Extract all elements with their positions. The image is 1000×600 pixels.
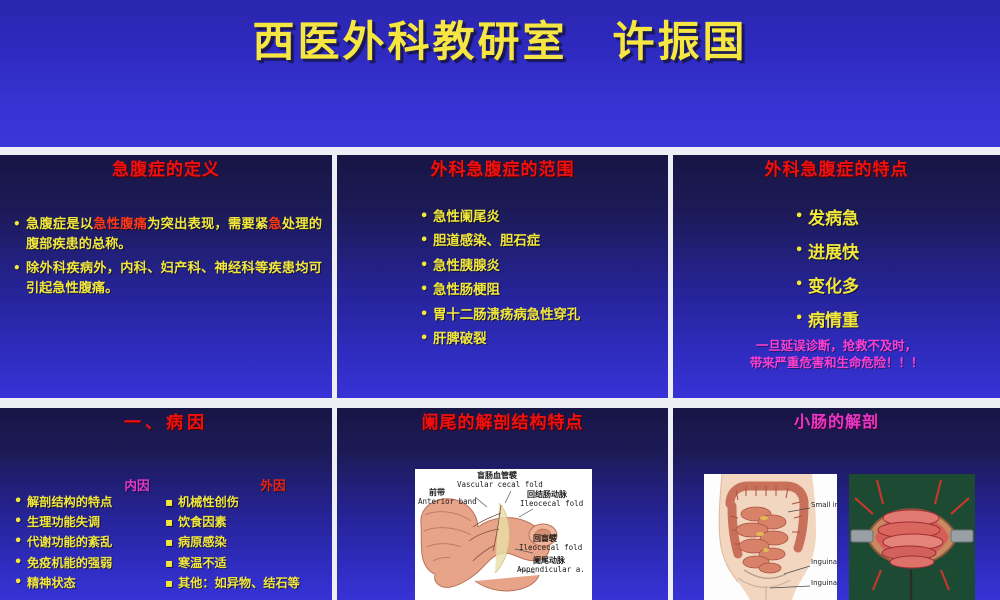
small-intestine-illustration: Small intestine Inguinal ligament Inguin… — [704, 474, 837, 600]
list-item: 机械性创伤 — [178, 496, 332, 508]
features-list: 发病急 进展快 变化多 病情重 — [808, 211, 1000, 347]
definition-body: 急腹症是以急性腹痛为突出表现，需要紧急处理的腹部疾患的总称。 除外科疾病外，内科… — [12, 215, 322, 303]
definition-paragraph-2: 除外科疾病外，内科、妇产科、神经科等疾患均可引起急性腹痛。 — [12, 259, 322, 300]
figure-label-en-ileocecal-fold: Ileocecal fold — [519, 544, 582, 552]
list-item: 免疫机能的强弱 — [27, 557, 177, 569]
list-item: 饮食因素 — [178, 516, 332, 528]
figure-label-inguinal-ligament: Inguinal ligament — [811, 559, 837, 567]
slide-panel-definition[interactable]: 急腹症的定义 急腹症是以急性腹痛为突出表现，需要紧急处理的腹部疾患的总称。 除外… — [0, 155, 332, 398]
list-item: 精神状态 — [27, 577, 177, 589]
slide-panel-scope[interactable]: 外科急腹症的范围 急性阑尾炎 胆道感染、胆石症 急性胰腺炎 急性肠梗阻 胃十二肠… — [337, 155, 668, 398]
etiology-external-list: 机械性创伤 饮食因素 病原感染 寒温不适 其他：如异物、结石等 — [178, 496, 332, 597]
panel-title-scope: 外科急腹症的范围 — [337, 155, 668, 180]
page-title: 西医外科教研室 许振国 — [0, 8, 1000, 69]
etiology-column-header-external: 外因 — [228, 475, 318, 494]
figure-label-en-anterior-band: Anterior band — [418, 498, 477, 506]
small-intestine-surgical-photo — [849, 474, 975, 600]
figure-label-en-appendicular-artery: Appendicular a. — [517, 566, 585, 574]
list-item: 病原感染 — [178, 536, 332, 548]
list-item: 发病急 — [808, 211, 1000, 228]
list-item: 代谢功能的紊乱 — [27, 536, 177, 548]
definition-p1-mid: 为突出表现，需要紧 — [147, 217, 268, 232]
definition-p2-text: 除外科疾病外，内科、妇产科、神经科等疾患均可引起急性腹痛。 — [26, 261, 322, 296]
title-banner: 西医外科教研室 许振国 — [0, 0, 1000, 147]
list-item: 进展快 — [808, 245, 1000, 262]
scope-list: 急性阑尾炎 胆道感染、胆石症 急性胰腺炎 急性肠梗阻 胃十二肠溃疡病急性穿孔 肝… — [433, 211, 668, 357]
list-item: 胃十二肠溃疡病急性穿孔 — [433, 309, 668, 322]
list-item: 肝脾破裂 — [433, 333, 668, 346]
list-item: 寒温不适 — [178, 557, 332, 569]
panel-title-definition: 急腹症的定义 — [0, 155, 332, 180]
figure-label-inguinal-ligament-text: Inguinal ligament — [811, 558, 837, 566]
figure-label-en-ileocolic-artery: Ileocecal fold — [520, 500, 583, 508]
list-item: 急性阑尾炎 — [433, 211, 668, 224]
slide-panel-small-intestine[interactable]: 小肠的解剖 — [673, 408, 1000, 600]
figure-label-inguinal-ring: Inguinal ring — [811, 580, 837, 588]
surgical-photo-svg — [849, 474, 975, 600]
slide-panel-appendix-anatomy[interactable]: 阑尾的解剖结构特点 — [337, 408, 668, 600]
list-item: 病情重 — [808, 313, 1000, 330]
etiology-internal-list: 解剖结构的特点 生理功能失调 代谢功能的紊乱 免疫机能的强弱 精神状态 — [27, 496, 177, 597]
figure-label-inguinal-ring-text: Inguinal ring — [811, 579, 837, 587]
panel-title-appendix-anatomy: 阑尾的解剖结构特点 — [337, 408, 668, 433]
etiology-column-header-internal: 内因 — [92, 475, 182, 494]
features-warning-line-2: 带来严重危害和生命危险！！！ — [673, 355, 1000, 372]
features-warning: 一旦延误诊断，抢救不及时， 带来严重危害和生命危险！！！ — [673, 338, 1000, 371]
definition-paragraph-1: 急腹症是以急性腹痛为突出表现，需要紧急处理的腹部疾患的总称。 — [12, 215, 322, 256]
list-item: 胆道感染、胆石症 — [433, 235, 668, 248]
figure-label-en-vascular-cecal-fold: Vascular cecal fold — [457, 481, 543, 489]
features-warning-line-1: 一旦延误诊断，抢救不及时， — [673, 338, 1000, 355]
slide-panel-features[interactable]: 外科急腹症的特点 发病急 进展快 变化多 病情重 一旦延误诊断，抢救不及时， 带… — [673, 155, 1000, 398]
list-item: 生理功能失调 — [27, 516, 177, 528]
list-item: 急性胰腺炎 — [433, 260, 668, 273]
figure-label-small-intestine-text: Small intestine — [811, 501, 837, 509]
list-item: 急性肠梗阻 — [433, 284, 668, 297]
slide-panel-etiology[interactable]: 一、病因 内因 外因 解剖结构的特点 生理功能失调 代谢功能的紊乱 免疫机能的强… — [0, 408, 332, 600]
panel-title-small-intestine: 小肠的解剖 — [673, 408, 1000, 432]
list-item: 解剖结构的特点 — [27, 496, 177, 508]
definition-p1-highlight: 急性腹痛 — [93, 217, 147, 232]
appendix-anatomy-figure: 盲肠血管襞 Vascular cecal fold 前带 Anterior ba… — [415, 469, 592, 600]
definition-p1-pre: 急腹症是以 — [26, 217, 93, 232]
list-item: 其他：如异物、结石等 — [178, 577, 332, 589]
panel-title-etiology: 一、病因 — [0, 408, 332, 433]
definition-p1-highlight-2: 急 — [268, 217, 281, 232]
figure-label-small-intestine: Small intestine — [811, 502, 837, 510]
panel-title-features: 外科急腹症的特点 — [673, 155, 1000, 180]
slide-contact-sheet: 西医外科教研室 许振国 急腹症的定义 急腹症是以急性腹痛为突出表现，需要紧急处理… — [0, 0, 1000, 600]
list-item: 变化多 — [808, 279, 1000, 296]
